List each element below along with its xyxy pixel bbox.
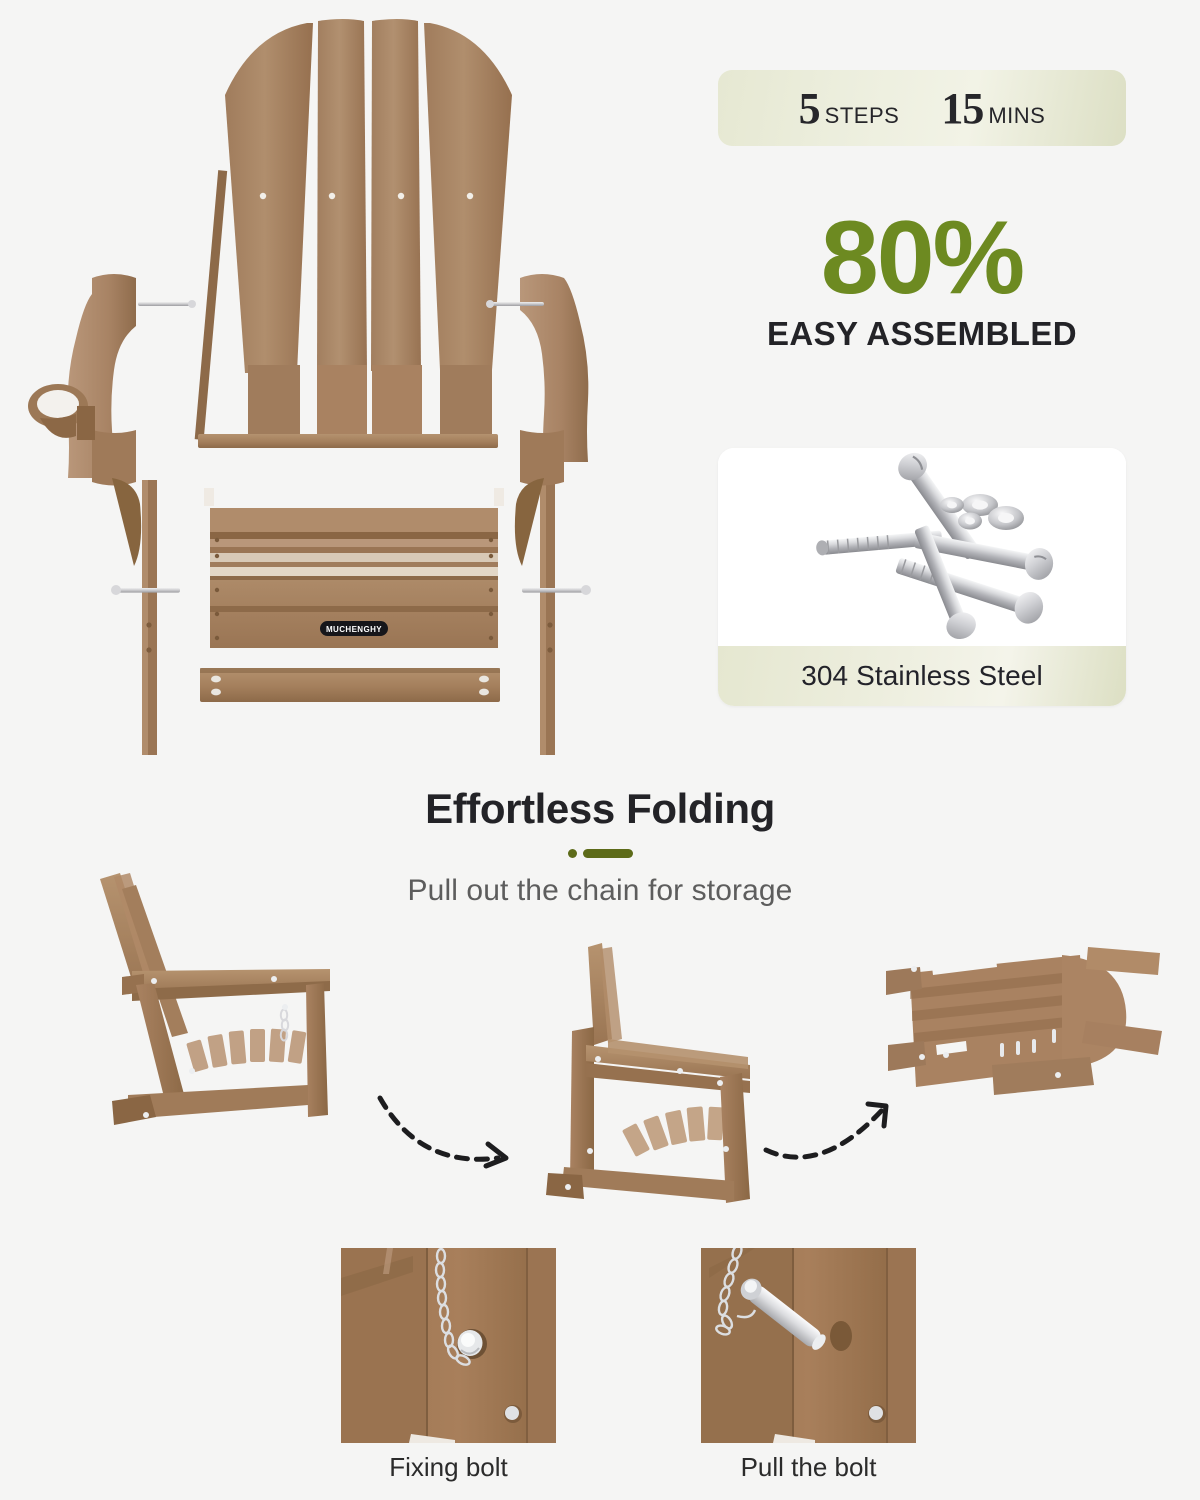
minutes-count: 15 bbox=[941, 83, 983, 134]
percent-value: 80% bbox=[718, 205, 1126, 311]
minutes-group: 15 MINS bbox=[941, 83, 1045, 134]
rivet bbox=[504, 1405, 522, 1423]
armrest-left-with-cupholder bbox=[28, 274, 196, 755]
armrest-right bbox=[486, 274, 591, 755]
divider-dot bbox=[568, 849, 577, 858]
hardware-photo bbox=[718, 448, 1126, 646]
steps-group: 5 STEPS bbox=[799, 83, 900, 134]
seat-assembly: MUCHENGHY bbox=[204, 488, 504, 648]
pull-bolt-photo bbox=[701, 1248, 916, 1443]
washer bbox=[988, 506, 1024, 530]
hardware-caption-bar: 304 Stainless Steel bbox=[718, 646, 1126, 706]
folding-step-unfolded bbox=[70, 865, 390, 1145]
washer bbox=[940, 497, 964, 513]
folding-sequence bbox=[0, 865, 1200, 1225]
steps-time-badge: 5 STEPS 15 MINS bbox=[718, 70, 1126, 146]
stainless-steel-card: 304 Stainless Steel bbox=[718, 448, 1126, 706]
fold-arrow-1 bbox=[370, 1080, 540, 1180]
exploded-parts-diagram: MUCHENGHY bbox=[20, 10, 720, 760]
fixing-bolt-caption: Fixing bolt bbox=[341, 1452, 556, 1483]
steps-unit-label: STEPS bbox=[825, 103, 900, 129]
washer bbox=[958, 513, 982, 530]
backrest-assembly bbox=[195, 19, 512, 448]
section-title: Effortless Folding bbox=[0, 785, 1200, 833]
folding-step-fully-folded bbox=[880, 925, 1170, 1125]
rivet bbox=[868, 1405, 886, 1423]
divider-dash bbox=[583, 849, 633, 858]
product-infographic-page: MUCHENGHY 5 STEPS 15 MINS bbox=[0, 0, 1200, 1500]
cross-support-bar bbox=[200, 668, 500, 702]
percent-subtitle: EASY ASSEMBLED bbox=[718, 315, 1126, 353]
fixing-bolt-photo bbox=[341, 1248, 556, 1443]
steps-count: 5 bbox=[799, 83, 820, 134]
divider-ornament bbox=[0, 849, 1200, 858]
svg-text:MUCHENGHY: MUCHENGHY bbox=[326, 625, 382, 634]
empty-bolt-hole bbox=[830, 1321, 852, 1351]
pull-bolt-caption: Pull the bolt bbox=[701, 1452, 916, 1483]
brand-logo-badge: MUCHENGHY bbox=[320, 621, 388, 636]
easy-assembled-highlight: 80% EASY ASSEMBLED bbox=[718, 205, 1126, 353]
minutes-unit-label: MINS bbox=[988, 103, 1045, 129]
hardware-caption: 304 Stainless Steel bbox=[801, 660, 1043, 692]
